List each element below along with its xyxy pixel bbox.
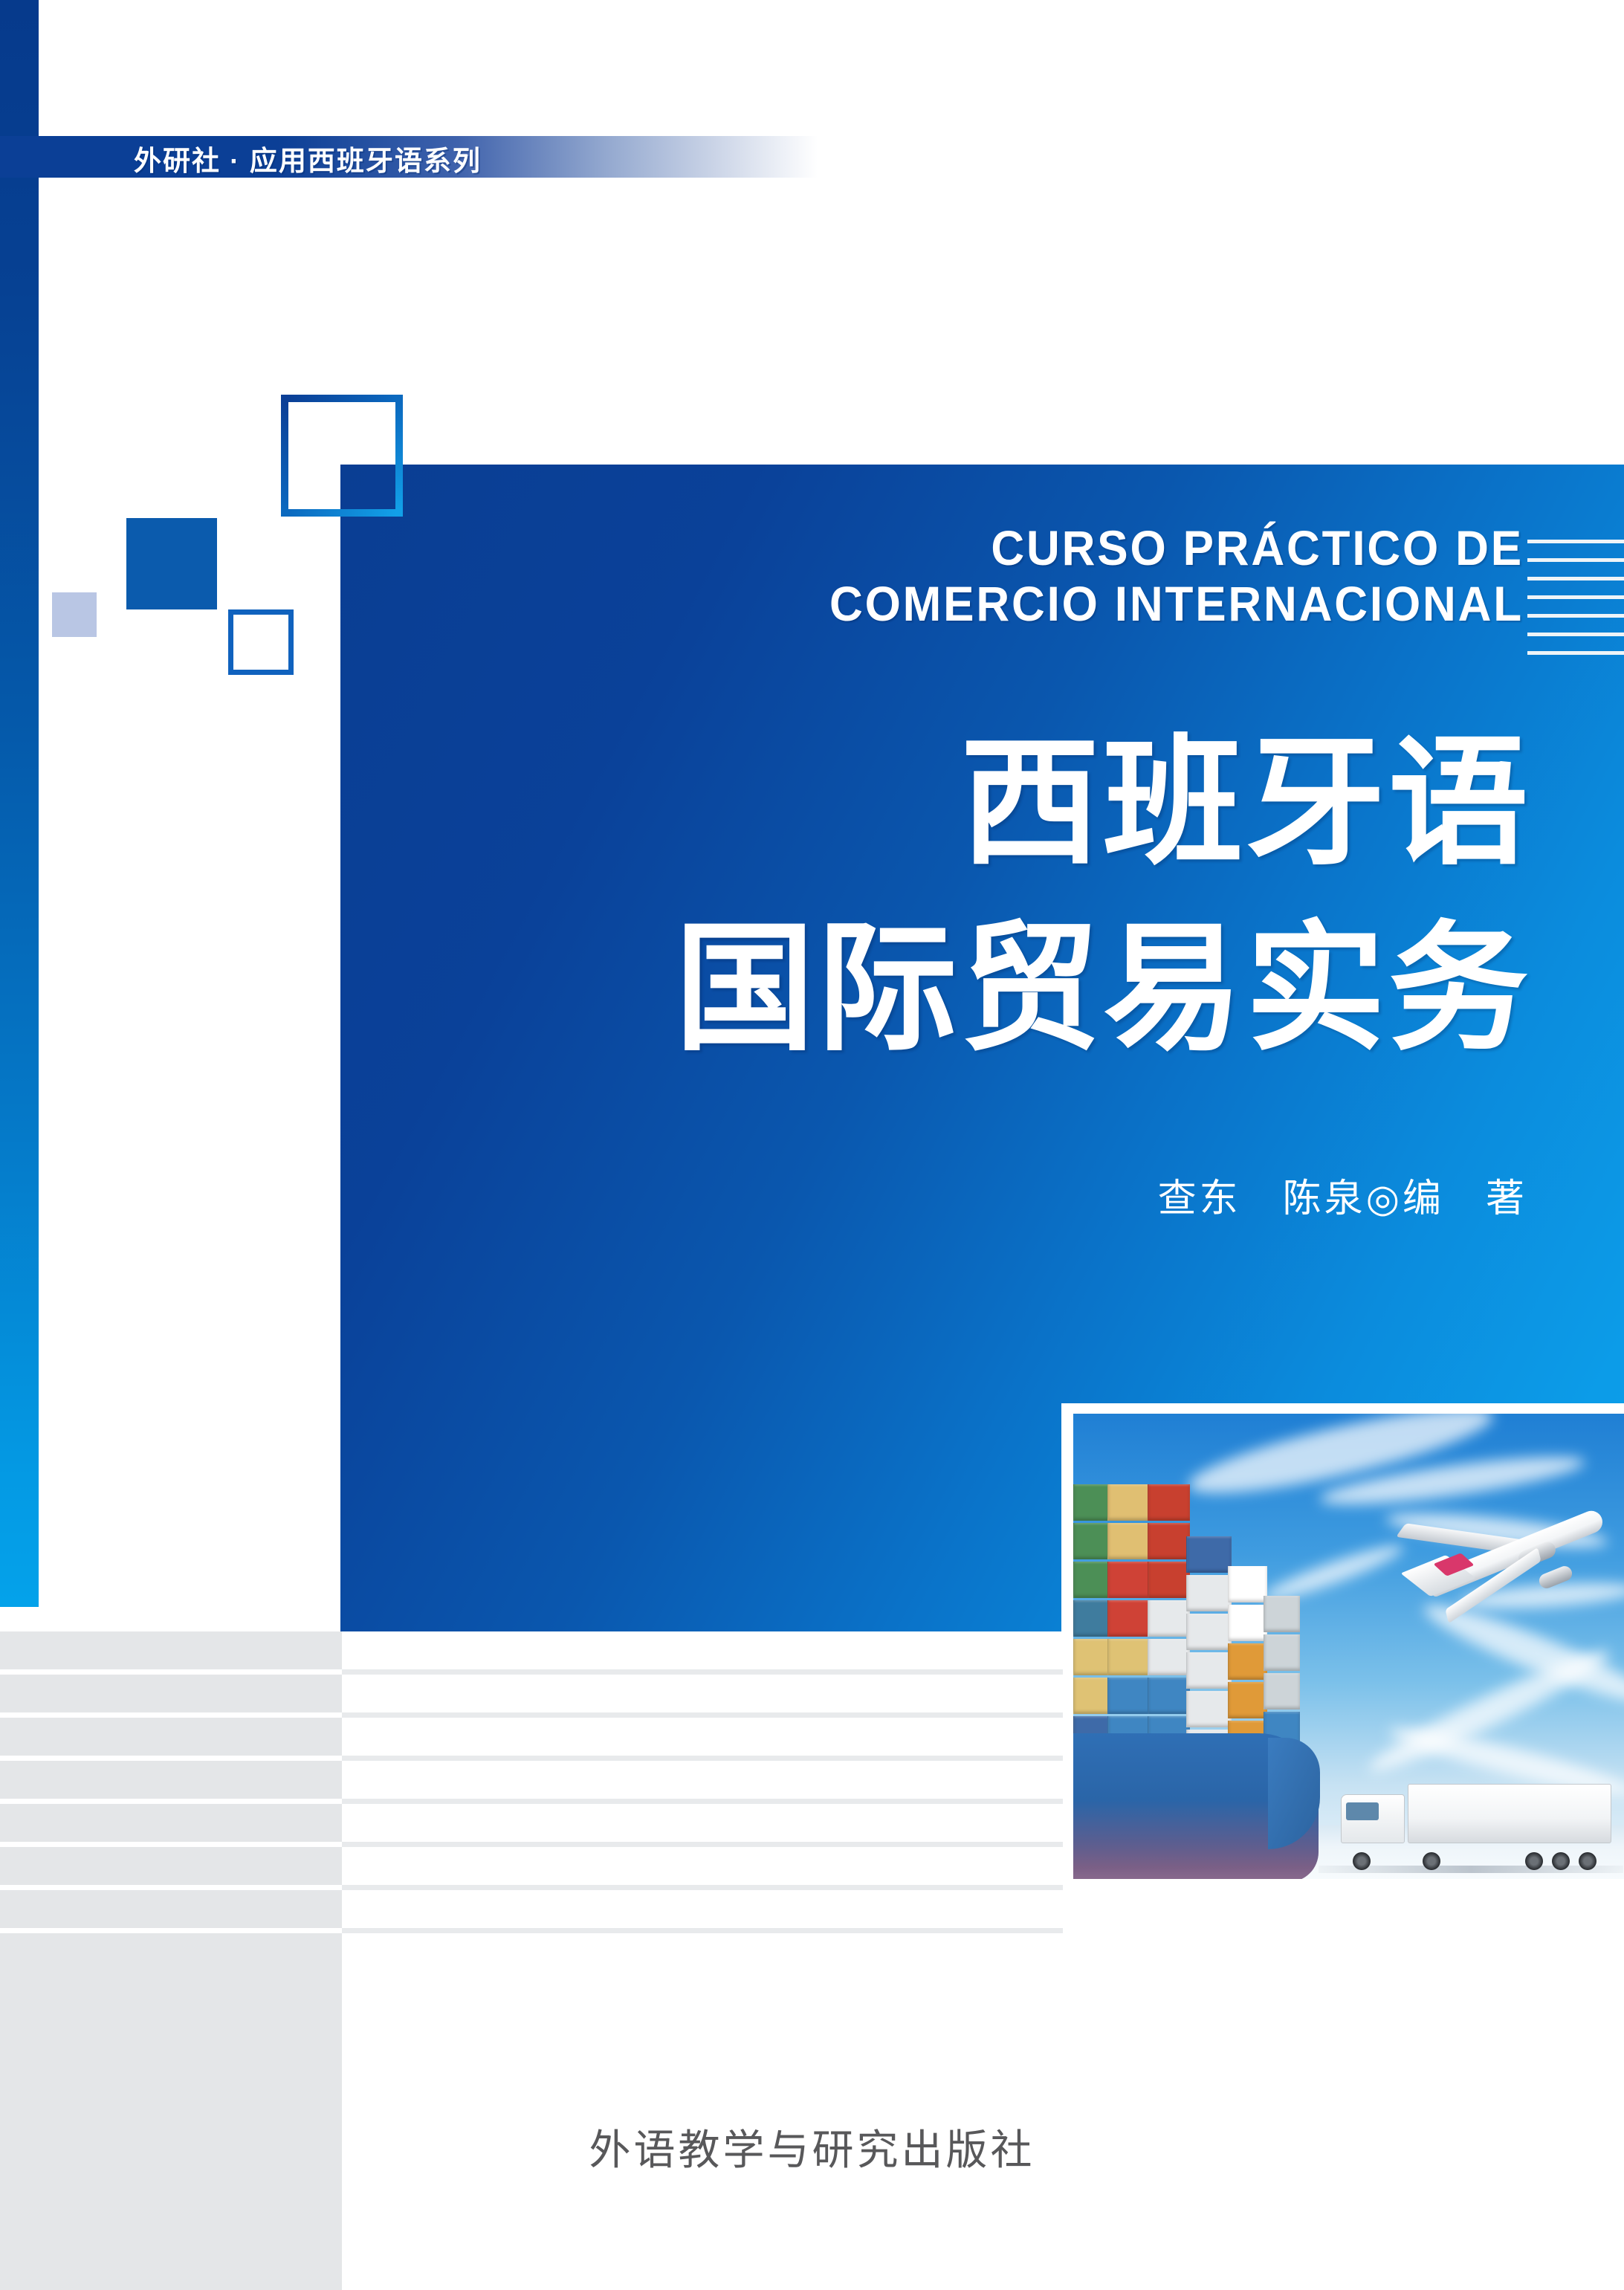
author-line: 查东 陈泉◎编 著 bbox=[669, 1167, 1527, 1223]
shipping-container bbox=[1107, 1678, 1151, 1714]
rule-line bbox=[1527, 540, 1624, 543]
rule-line bbox=[1527, 633, 1624, 636]
stripe-row bbox=[0, 1804, 1063, 1847]
airplane-engine bbox=[1537, 1564, 1574, 1591]
stripe-segment-right bbox=[342, 1669, 1063, 1675]
stripe-row bbox=[0, 1761, 1063, 1804]
chinese-title: 西班牙语 国际贸易实务 bbox=[386, 710, 1531, 1081]
rule-line bbox=[1527, 577, 1624, 580]
stripe-segment-left bbox=[0, 1631, 342, 1669]
truck-wheel bbox=[1525, 1852, 1543, 1870]
spanish-title-line-2: COMERCIO INTERNACIONAL bbox=[482, 576, 1524, 632]
shipping-container bbox=[1186, 1691, 1232, 1727]
stripe-segment-left bbox=[0, 1761, 342, 1799]
decor-square-outline-small bbox=[228, 609, 294, 675]
truck-wheel bbox=[1423, 1852, 1440, 1870]
rule-line bbox=[1527, 558, 1624, 562]
shipping-container bbox=[1148, 1678, 1190, 1714]
stripe-segment-left bbox=[0, 1804, 342, 1842]
truck-trailer bbox=[1408, 1784, 1611, 1843]
spanish-title-line-1: CURSO PRÁCTICO DE bbox=[482, 520, 1524, 576]
shipping-container bbox=[1148, 1484, 1190, 1521]
rule-line bbox=[1527, 595, 1624, 599]
shipping-container bbox=[1264, 1673, 1300, 1710]
spanish-title: CURSO PRÁCTICO DE COMERCIO INTERNACIONAL bbox=[482, 520, 1524, 631]
stripe-segment-right bbox=[342, 1756, 1063, 1761]
rule-line bbox=[1527, 651, 1624, 655]
shipping-container bbox=[1107, 1562, 1151, 1598]
stripe-row bbox=[0, 1847, 1063, 1890]
shipping-container bbox=[1186, 1652, 1232, 1689]
book-cover: 外研社 · 应用西班牙语系列 CURSO PRÁCTICO DE COMERCI… bbox=[0, 0, 1624, 2290]
stripe-row bbox=[0, 1718, 1063, 1761]
stripe-segment-right bbox=[342, 1712, 1063, 1718]
stripe-row bbox=[0, 1675, 1063, 1718]
container-stack bbox=[1073, 1484, 1311, 1752]
shipping-container bbox=[1148, 1562, 1190, 1598]
stripe-segment-right bbox=[342, 1928, 1063, 1933]
shipping-container bbox=[1107, 1600, 1151, 1637]
shipping-container bbox=[1107, 1639, 1151, 1675]
truck-wheel bbox=[1353, 1852, 1371, 1870]
shipping-container bbox=[1186, 1614, 1232, 1650]
left-spine-gradient-bar bbox=[0, 0, 39, 1607]
shipping-container bbox=[1148, 1600, 1190, 1637]
truck-cab bbox=[1341, 1794, 1405, 1843]
truck-wheel bbox=[1552, 1852, 1570, 1870]
stripe-segment-right bbox=[342, 1885, 1063, 1890]
shipping-container bbox=[1228, 1566, 1267, 1602]
decor-square-light-lavender bbox=[52, 592, 97, 637]
truck-wheel bbox=[1579, 1852, 1596, 1870]
shipping-container bbox=[1107, 1523, 1151, 1559]
stripe-segment-right bbox=[342, 1842, 1063, 1847]
chinese-title-line-1: 西班牙语 bbox=[386, 710, 1531, 896]
stripe-segment-left bbox=[0, 1675, 342, 1712]
rule-line bbox=[1527, 614, 1624, 618]
stripe-segment-left bbox=[0, 1847, 342, 1885]
stripe-row bbox=[0, 1631, 1063, 1675]
shipping-container bbox=[1148, 1523, 1190, 1559]
decor-rule-lines bbox=[1527, 540, 1624, 659]
stripe-row bbox=[0, 1890, 1063, 1933]
ship-hull bbox=[1073, 1733, 1319, 1879]
shipping-container bbox=[1186, 1536, 1232, 1573]
stripe-segment-left bbox=[0, 1718, 342, 1756]
stripe-segment-left bbox=[0, 1890, 342, 1928]
shipping-container bbox=[1107, 1484, 1151, 1521]
shipping-container bbox=[1264, 1596, 1300, 1632]
decor-square-outline-large bbox=[281, 395, 403, 517]
publisher-name: 外语教学与研究出版社 bbox=[0, 2117, 1624, 2177]
photo-frame bbox=[1061, 1403, 1624, 1879]
shipping-container bbox=[1186, 1575, 1232, 1611]
shipping-container bbox=[1148, 1639, 1190, 1675]
stripe-segment-right bbox=[342, 1799, 1063, 1804]
shipping-container bbox=[1228, 1643, 1267, 1680]
delivery-truck-icon bbox=[1335, 1779, 1610, 1869]
shipping-container bbox=[1228, 1605, 1267, 1641]
shipping-container bbox=[1264, 1634, 1300, 1671]
series-banner-label: 外研社 · 应用西班牙语系列 bbox=[134, 138, 482, 179]
cargo-airplane-icon bbox=[1393, 1495, 1623, 1622]
shipping-container bbox=[1228, 1682, 1267, 1718]
logistics-photo bbox=[1073, 1414, 1624, 1879]
chinese-title-line-2: 国际贸易实务 bbox=[386, 896, 1531, 1081]
decor-square-filled-blue bbox=[126, 518, 217, 609]
